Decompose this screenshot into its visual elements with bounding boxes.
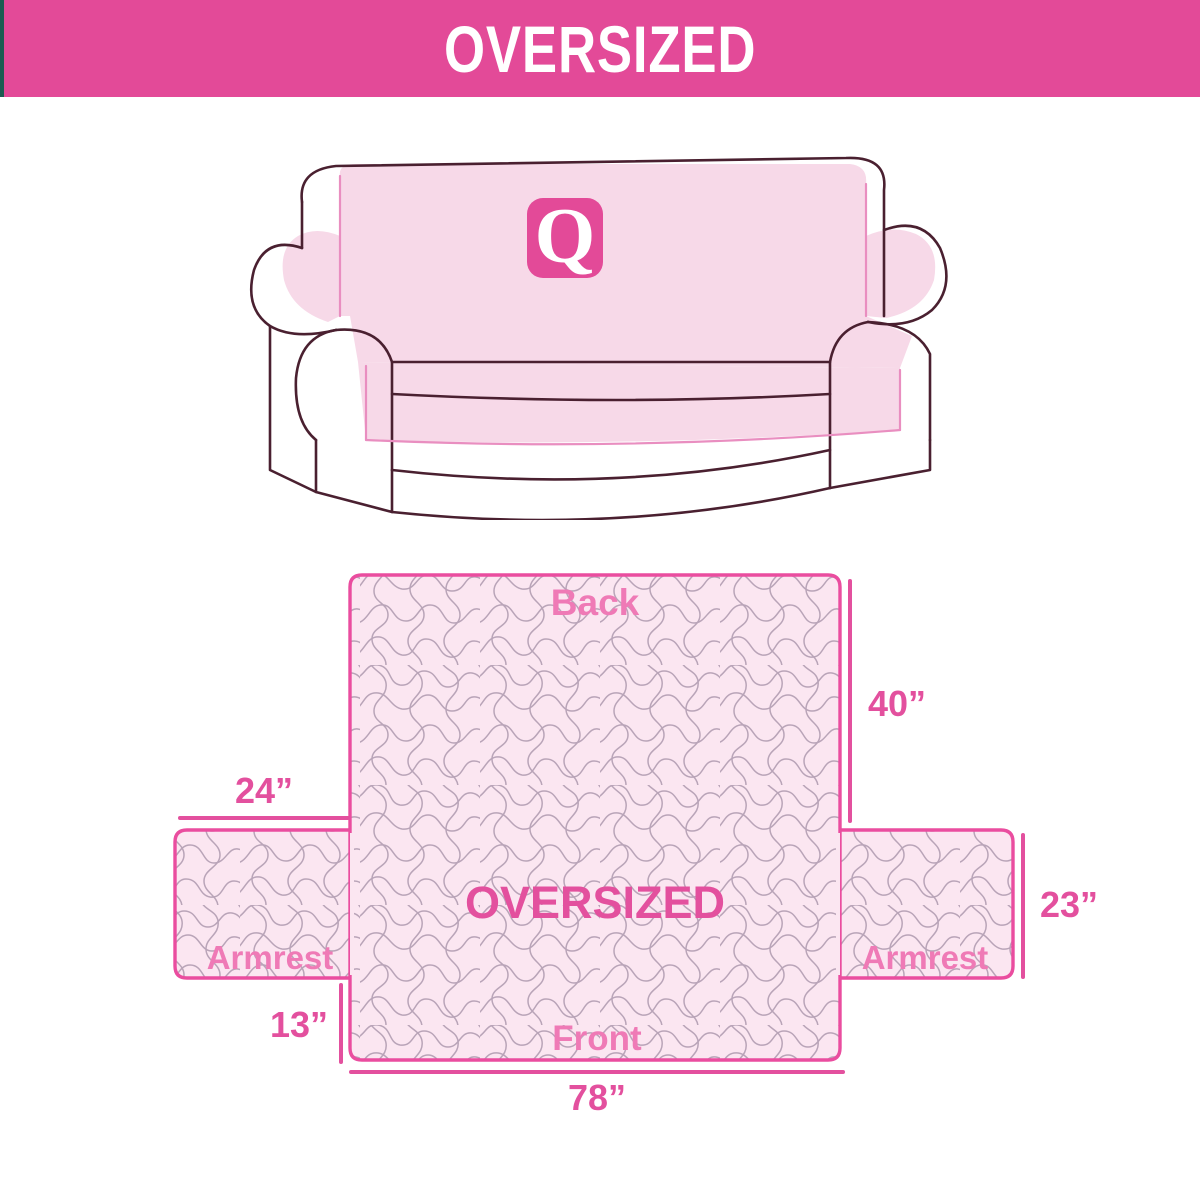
brand-logo: Q xyxy=(527,192,603,279)
sofa-left-arm-front-edge xyxy=(270,326,316,492)
dimension-label-24: 24” xyxy=(235,770,293,811)
dimension-back-depth: 24” xyxy=(180,770,348,818)
dimension-label-23: 23” xyxy=(1040,884,1098,925)
cover-main-body-panel xyxy=(350,575,840,1060)
sofa-cover-skirt-fill xyxy=(358,362,900,442)
dimension-total-width: 78” xyxy=(351,1072,843,1118)
sofa-cover-seat-fill xyxy=(350,316,912,368)
sofa-right-arm-front-panel xyxy=(830,440,930,488)
size-chart-page: OVERSIZED xyxy=(0,0,1200,1200)
dimension-armrest-height: 23” xyxy=(1023,835,1098,977)
label-armrest-right: Armrest xyxy=(862,939,989,976)
sofa-left-arm-inner-roll xyxy=(296,330,336,440)
label-armrest-left: Armrest xyxy=(207,939,334,976)
dimension-label-78: 78” xyxy=(568,1077,626,1118)
sofa-left-arm-front-panel xyxy=(316,440,392,512)
dimension-front-depth: 13” xyxy=(270,985,341,1062)
label-back: Back xyxy=(551,582,640,623)
sofa-illustration: Q xyxy=(240,140,980,520)
header-edge-accent xyxy=(0,0,4,97)
sofa-base-front xyxy=(392,488,830,520)
dimension-label-40: 40” xyxy=(868,683,926,724)
dimension-label-13: 13” xyxy=(270,1004,328,1045)
sofa-base-bottom xyxy=(392,450,830,479)
header-banner: OVERSIZED xyxy=(0,0,1200,97)
sofa-cover-right-arm-fill xyxy=(866,184,935,318)
label-front: Front xyxy=(552,1019,642,1058)
sofa-cover-left-arm-fill xyxy=(283,176,340,322)
label-center-oversized: OVERSIZED xyxy=(465,877,725,928)
dimension-back-height: 40” xyxy=(850,581,926,821)
page-title: OVERSIZED xyxy=(444,16,756,82)
cover-diagram: Back OVERSIZED Armrest Armrest Front 24”… xyxy=(120,545,1100,1135)
logo-letter: Q xyxy=(535,192,596,279)
